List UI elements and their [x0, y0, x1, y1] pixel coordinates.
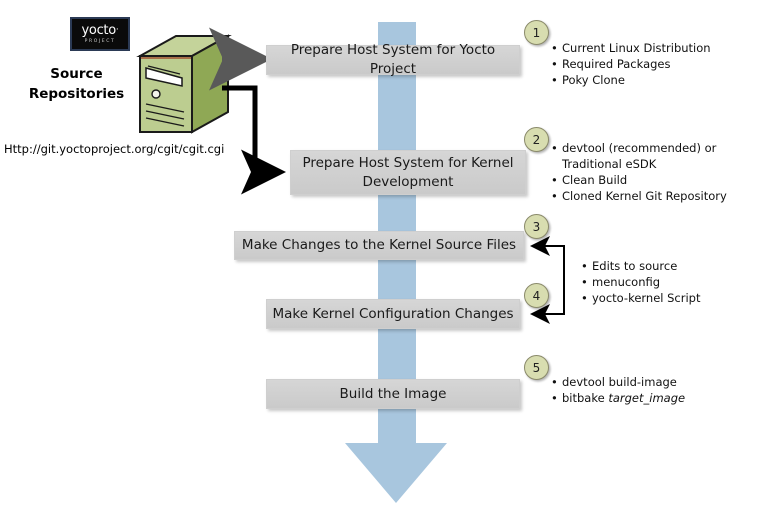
list-item: Clean Build	[551, 172, 761, 188]
step-5-bullet-list: devtool build-image bitbake target_image	[551, 374, 761, 406]
list-item: menuconfig	[581, 274, 761, 290]
step-badge-4: 4	[524, 283, 549, 308]
step-badge-number: 4	[533, 289, 541, 303]
step-badge-number: 2	[533, 133, 541, 147]
process-box-make-kernel-config-changes[interactable]: Make Kernel Configuration Changes	[266, 299, 520, 329]
list-item: yocto-kernel Script	[581, 290, 761, 306]
step-badge-number: 1	[533, 26, 541, 40]
step-badge-number: 3	[533, 220, 541, 234]
process-box-prepare-host-yocto[interactable]: Prepare Host System for Yocto Project	[266, 45, 520, 75]
diagram-canvas: yocto· PROJECT Source Repositories Http:…	[0, 0, 769, 517]
list-item: bitbake target_image	[551, 390, 761, 406]
bitbake-target-image-arg: target_image	[608, 391, 685, 405]
list-item: Required Packages	[551, 56, 761, 72]
list-item: Cloned Kernel Git Repository	[551, 188, 761, 204]
process-box-label: Build the Image	[340, 385, 447, 404]
step-badge-3: 3	[524, 214, 549, 239]
list-item: Current Linux Distribution	[551, 40, 761, 56]
list-item: Poky Clone	[551, 72, 761, 88]
step-2-bullet-list: devtool (recommended) or Traditional eSD…	[551, 140, 761, 204]
process-box-make-changes-kernel-source[interactable]: Make Changes to the Kernel Source Files	[234, 231, 524, 260]
process-box-label: Make Kernel Configuration Changes	[272, 305, 513, 324]
process-box-label: Make Changes to the Kernel Source Files	[242, 236, 516, 255]
process-box-build-the-image[interactable]: Build the Image	[266, 379, 520, 409]
step-1-bullet-list: Current Linux Distribution Required Pack…	[551, 40, 761, 88]
list-item: devtool (recommended) or Traditional eSD…	[551, 140, 761, 172]
list-item: devtool build-image	[551, 374, 761, 390]
process-box-label: Prepare Host System for Kernel Developme…	[291, 154, 525, 192]
step-badge-2: 2	[524, 127, 549, 152]
steps-3-4-bullet-list: Edits to source menuconfig yocto-kernel …	[581, 258, 761, 306]
bitbake-command-prefix: bitbake	[562, 391, 608, 405]
step-badge-5: 5	[524, 355, 549, 380]
step-badge-1: 1	[524, 20, 549, 45]
process-box-prepare-host-kernel[interactable]: Prepare Host System for Kernel Developme…	[290, 150, 526, 195]
process-box-label: Prepare Host System for Yocto Project	[267, 41, 519, 79]
list-item: Edits to source	[581, 258, 761, 274]
step-badge-number: 5	[533, 361, 541, 375]
